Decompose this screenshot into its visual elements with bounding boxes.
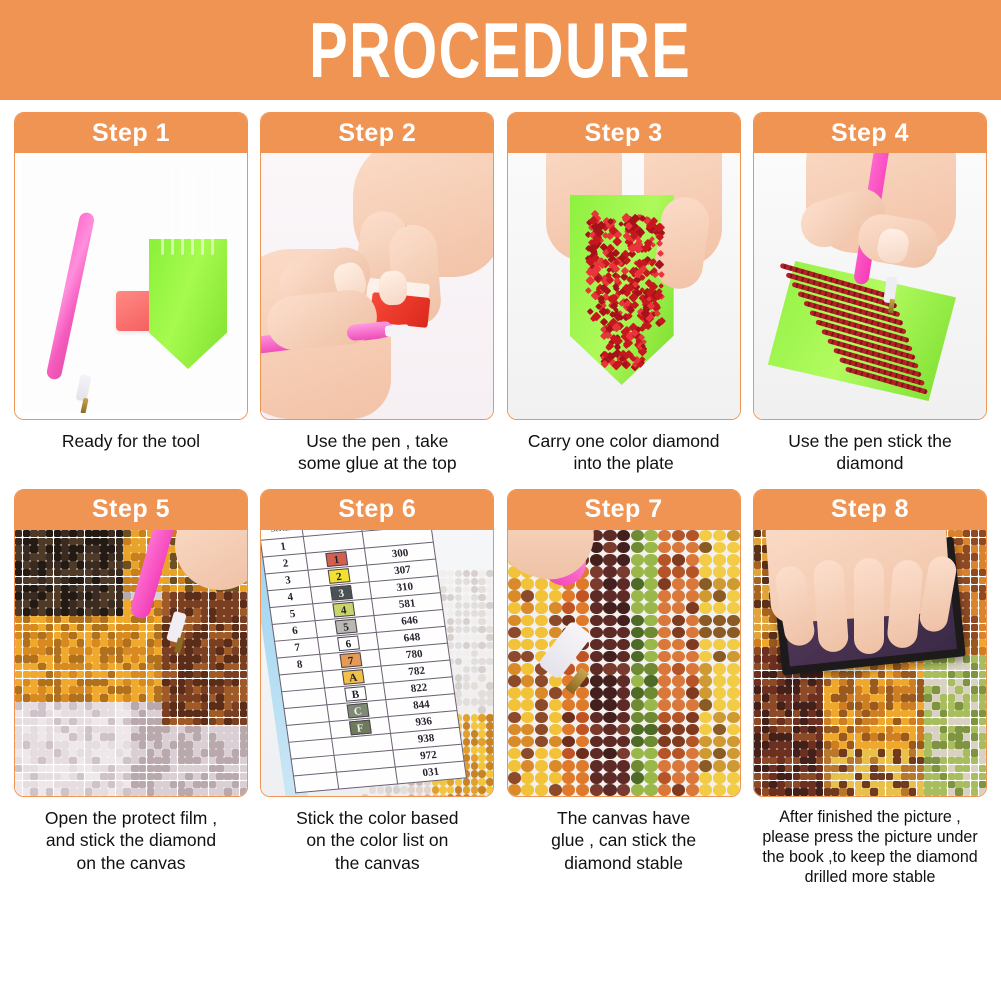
diamond-drill <box>77 773 84 780</box>
diamond-drill <box>855 718 862 725</box>
diamond-drill <box>901 718 908 725</box>
diamond-drill <box>471 714 478 722</box>
diamond-drill <box>108 608 115 615</box>
diamond-drill <box>816 671 823 678</box>
diamond-drill <box>948 702 955 709</box>
diamond-drill <box>508 615 521 627</box>
diamond-drill <box>917 765 924 772</box>
diamond-drill <box>521 663 534 675</box>
diamond-drill <box>240 702 247 709</box>
diamond-drill <box>224 679 231 686</box>
diamond-drill <box>463 650 470 658</box>
diamond-drill <box>123 632 130 639</box>
diamond-drill <box>201 632 208 639</box>
diamond-drill <box>209 741 216 748</box>
diamond-drill <box>631 615 644 627</box>
diamond-drill <box>154 655 161 662</box>
diamond-drill <box>69 733 76 740</box>
diamond-drill <box>147 616 154 623</box>
diamond-drill <box>762 600 769 607</box>
diamond-drill <box>699 663 712 675</box>
diamond-drill <box>686 639 699 651</box>
diamond-drill <box>478 754 485 762</box>
diamond-drill <box>824 749 831 756</box>
diamond-drill <box>463 602 470 610</box>
diamond-drill <box>486 722 493 730</box>
diamond-drill <box>15 569 22 576</box>
diamond-drill <box>46 741 53 748</box>
diamond-drill <box>754 577 761 584</box>
diamond-drill <box>769 726 776 733</box>
diamond-drill <box>77 718 84 725</box>
diamond-drill <box>940 788 947 795</box>
diamond-drill <box>108 632 115 639</box>
diamond-drill <box>963 679 970 686</box>
diamond-drill <box>15 710 22 717</box>
diamond-drill <box>699 651 712 663</box>
diamond-drill <box>576 602 589 614</box>
diamond-drill <box>893 749 900 756</box>
diamond-drill <box>77 608 84 615</box>
diamond-drill <box>963 592 970 599</box>
diamond-drill <box>658 699 671 711</box>
diamond-drill <box>870 733 877 740</box>
diamond-drill <box>216 632 223 639</box>
diamond-drill <box>108 585 115 592</box>
diamond-drill <box>240 632 247 639</box>
diamond-drill <box>61 749 68 756</box>
diamond-drill <box>824 694 831 701</box>
diamond-drill <box>240 741 247 748</box>
diamond-drill <box>216 781 223 788</box>
diamond-drill <box>61 608 68 615</box>
diamond-drill <box>447 578 454 586</box>
diamond-drill <box>727 639 740 651</box>
diamond-drill <box>100 545 107 552</box>
diamond-drill <box>727 554 740 566</box>
diamond-drill <box>162 702 169 709</box>
diamond-drill <box>924 741 931 748</box>
diamond-drill <box>178 600 185 607</box>
diamond-drill <box>30 679 37 686</box>
diamond-drill <box>672 772 685 784</box>
diamond-drill <box>893 788 900 795</box>
step-3-header: Step 3 <box>508 113 740 153</box>
diamond-drill <box>23 710 30 717</box>
diamond-drill <box>85 639 92 646</box>
diamond-drill <box>878 757 885 764</box>
diamond-drill <box>824 686 831 693</box>
diamond-drill <box>658 542 671 554</box>
diamond-drill <box>979 545 986 552</box>
diamond-drill <box>170 741 177 748</box>
diamond-drill <box>839 749 846 756</box>
diamond-drill <box>38 639 45 646</box>
diamond-drill <box>69 741 76 748</box>
diamond-drill <box>940 726 947 733</box>
diamond-drill <box>123 538 130 545</box>
diamond-drill <box>824 702 831 709</box>
diamond-drill <box>644 651 657 663</box>
diamond-drill <box>862 765 869 772</box>
diamond-drill <box>617 530 630 542</box>
diamond-drill <box>15 788 22 795</box>
diamond-drill <box>486 746 493 754</box>
diamond-drill <box>631 736 644 748</box>
diamond-drill <box>808 702 815 709</box>
diamond-drill <box>644 615 657 627</box>
diamond-drill <box>455 642 462 650</box>
diamond-drill <box>240 608 247 615</box>
diamond-drill <box>478 706 485 714</box>
diamond-drill <box>893 671 900 678</box>
diamond-drill <box>762 624 769 631</box>
diamond-drill <box>901 686 908 693</box>
diamond-drill <box>699 566 712 578</box>
diamond-drill <box>762 694 769 701</box>
diamond-drill <box>963 530 970 537</box>
diamond-drill <box>644 554 657 566</box>
diamond-drill <box>816 686 823 693</box>
diamond-drill <box>955 671 962 678</box>
diamond-drill <box>816 710 823 717</box>
diamond-drill <box>963 577 970 584</box>
diamond-drill <box>870 702 877 709</box>
diamond-drill <box>909 679 916 686</box>
diamond-drill <box>85 538 92 545</box>
diamond-drill <box>201 624 208 631</box>
diamond-drill <box>92 686 99 693</box>
diamond-drill <box>92 530 99 537</box>
diamond-drill <box>209 781 216 788</box>
diamond-drill <box>762 585 769 592</box>
diamond-drill <box>909 726 916 733</box>
diamond-drill <box>486 754 493 762</box>
diamond-drill <box>576 712 589 724</box>
diamond-drill <box>831 671 838 678</box>
diamond-drill <box>769 781 776 788</box>
diamond-drill <box>754 600 761 607</box>
diamond-drill <box>232 663 239 670</box>
diamond-drill <box>754 710 761 717</box>
diamond-drill <box>77 741 84 748</box>
diamond-drill <box>963 553 970 560</box>
diamond-drill <box>38 561 45 568</box>
diamond-drill <box>878 702 885 709</box>
diamond-drill <box>23 694 30 701</box>
diamond-drill <box>672 784 685 796</box>
diamond-drill <box>170 600 177 607</box>
diamond-drill <box>808 781 815 788</box>
diamond-drill <box>672 542 685 554</box>
diamond-drill <box>108 600 115 607</box>
diamond-drill <box>831 726 838 733</box>
diamond-drill <box>69 686 76 693</box>
diamond-drill <box>15 530 22 537</box>
diamond-drill <box>38 733 45 740</box>
diamond-drill <box>185 726 192 733</box>
diamond-drill <box>178 686 185 693</box>
diamond-drill <box>924 663 931 670</box>
diamond-drill <box>508 639 521 651</box>
diamond-drill <box>727 578 740 590</box>
diamond-drill <box>963 671 970 678</box>
diamond-drill <box>54 600 61 607</box>
diamond-drill <box>463 618 470 626</box>
diamond-drill <box>232 592 239 599</box>
diamond-drill <box>131 663 138 670</box>
diamond-drill <box>471 610 478 618</box>
diamond-drill <box>471 578 478 586</box>
diamond-drill <box>535 784 548 796</box>
diamond-drill <box>116 694 123 701</box>
diamond-drill <box>108 694 115 701</box>
diamond-drill <box>92 632 99 639</box>
diamond-drill <box>979 608 986 615</box>
diamond-drill <box>948 788 955 795</box>
diamond-drill <box>486 610 493 618</box>
diamond-drill <box>85 632 92 639</box>
diamond-drill <box>69 592 76 599</box>
diamond-drill <box>932 686 939 693</box>
diamond-drill <box>971 616 978 623</box>
diamond-drill <box>77 765 84 772</box>
diamond-drill <box>631 554 644 566</box>
diamond-drill <box>893 781 900 788</box>
diamond-drill <box>30 585 37 592</box>
diamond-drill <box>672 651 685 663</box>
diamond-drill <box>193 694 200 701</box>
diamond-drill <box>762 757 769 764</box>
diamond-drill <box>178 726 185 733</box>
diamond-drill <box>535 760 548 772</box>
diamond-drill <box>917 718 924 725</box>
diamond-drill <box>69 655 76 662</box>
diamond-drill <box>785 718 792 725</box>
diamond-drill <box>85 545 92 552</box>
diamond-drill <box>590 639 603 651</box>
diamond-drill <box>521 712 534 724</box>
diamond-drill <box>979 702 986 709</box>
diamond-drill <box>61 545 68 552</box>
diamond-drill <box>201 773 208 780</box>
diamond-drill <box>878 788 885 795</box>
step-5-image <box>15 530 247 796</box>
diamond-drill <box>878 733 885 740</box>
diamond-drill <box>870 679 877 686</box>
diamond-drill <box>77 671 84 678</box>
diamond-drill <box>644 687 657 699</box>
diamond-drill <box>754 718 761 725</box>
diamond-drill <box>617 627 630 639</box>
diamond-drill <box>603 590 616 602</box>
diamond-drill <box>699 675 712 687</box>
diamond-drill <box>486 586 493 594</box>
diamond-drill <box>631 724 644 736</box>
diamond-drill <box>69 718 76 725</box>
diamond-drill <box>162 616 169 623</box>
diamond-drill <box>508 748 521 760</box>
diamond-drill <box>85 679 92 686</box>
diamond-drill <box>979 616 986 623</box>
diamond-drill <box>727 663 740 675</box>
diamond-drill <box>162 600 169 607</box>
diamond-drill <box>839 718 846 725</box>
diamond-drill <box>85 749 92 756</box>
diamond-drill <box>15 702 22 709</box>
diamond-drill <box>971 718 978 725</box>
diamond-drill <box>92 577 99 584</box>
diamond-drill <box>940 710 947 717</box>
diamond-drill <box>562 602 575 614</box>
diamond-drill <box>549 760 562 772</box>
diamond-drill <box>69 569 76 576</box>
diamond-drill <box>209 639 216 646</box>
diamond-drill <box>909 765 916 772</box>
step-1-image <box>15 153 247 419</box>
diamond-drill <box>478 690 485 698</box>
diamond-drill <box>100 702 107 709</box>
diamond-drill <box>30 726 37 733</box>
diamond-drill <box>23 577 30 584</box>
diamond-drill <box>893 694 900 701</box>
diamond-drill <box>590 687 603 699</box>
diamond-drill <box>147 765 154 772</box>
diamond-drill <box>116 616 123 623</box>
diamond-drill <box>46 694 53 701</box>
diamond-drill <box>754 545 761 552</box>
diamond-drill <box>948 726 955 733</box>
diamond-drill <box>154 710 161 717</box>
diamond-drill <box>963 781 970 788</box>
diamond-drill <box>590 736 603 748</box>
diamond-drill <box>686 542 699 554</box>
diamond-drill <box>201 702 208 709</box>
diamond-drill <box>92 561 99 568</box>
diamond-drill <box>131 553 138 560</box>
diamond-drill <box>549 602 562 614</box>
diamond-drill <box>61 624 68 631</box>
diamond-drill <box>178 773 185 780</box>
diamond-drill <box>808 788 815 795</box>
diamond-drill <box>23 773 30 780</box>
diamond-drill <box>658 687 671 699</box>
diamond-drill <box>478 674 485 682</box>
diamond-drill <box>46 569 53 576</box>
diamond-drill <box>201 616 208 623</box>
diamond-drill <box>713 566 726 578</box>
diamond-drill <box>147 718 154 725</box>
diamond-drill <box>800 773 807 780</box>
diamond-drill <box>816 773 823 780</box>
diamond-drill <box>232 781 239 788</box>
diamond-drill <box>463 674 470 682</box>
diamond-drill <box>924 694 931 701</box>
diamond-drill <box>240 679 247 686</box>
diamond-drill <box>886 733 893 740</box>
diamond-drill <box>85 718 92 725</box>
diamond-drill <box>870 765 877 772</box>
diamond-drill <box>77 710 84 717</box>
diamond-drill <box>154 624 161 631</box>
diamond-drill <box>54 608 61 615</box>
diamond-drill <box>100 726 107 733</box>
diamond-drill <box>940 781 947 788</box>
diamond-drill <box>658 724 671 736</box>
step-4-header-label: Step 4 <box>831 121 909 146</box>
diamond-drill <box>839 671 846 678</box>
diamond-drill <box>478 722 485 730</box>
diamond-drill <box>61 561 68 568</box>
diamond-drill <box>224 608 231 615</box>
diamond-drill <box>535 699 548 711</box>
diamond-drill <box>162 710 169 717</box>
diamond-drill <box>886 679 893 686</box>
diamond-drill <box>955 710 962 717</box>
diamond-drill <box>893 718 900 725</box>
step-card-2: Step 2 <box>260 112 494 475</box>
diamond-drill <box>576 724 589 736</box>
diamond-drill <box>603 578 616 590</box>
diamond-drill <box>672 530 685 542</box>
diamond-drill <box>535 748 548 760</box>
diamond-drill <box>855 726 862 733</box>
diamond-drill <box>672 724 685 736</box>
diamond-drill <box>46 647 53 654</box>
diamond-drill <box>463 682 470 690</box>
diamond-drill <box>85 585 92 592</box>
diamond-drill <box>232 710 239 717</box>
diamond-drill <box>590 554 603 566</box>
diamond-drill <box>878 694 885 701</box>
diamond-drill <box>886 773 893 780</box>
diamond-drill <box>209 718 216 725</box>
diamond-drill <box>463 698 470 706</box>
diamond-drill <box>955 702 962 709</box>
diamond-drill <box>216 718 223 725</box>
step-card-5: Step 5 Open the protect film ,and stick … <box>14 489 248 888</box>
diamond-drill <box>508 724 521 736</box>
step-4-card: Step 4 <box>753 112 987 420</box>
diamond-drill <box>808 686 815 693</box>
diamond-drill <box>521 615 534 627</box>
diamond-drill <box>486 690 493 698</box>
diamond-drill <box>617 760 630 772</box>
diamond-drill <box>108 741 115 748</box>
diamond-drill <box>77 781 84 788</box>
diamond-drill <box>486 786 493 794</box>
diamond-drill <box>699 724 712 736</box>
diamond-drill <box>108 757 115 764</box>
diamond-drill <box>15 592 22 599</box>
diamond-drill <box>224 733 231 740</box>
diamond-drill <box>754 749 761 756</box>
diamond-drill <box>631 542 644 554</box>
diamond-drill <box>77 569 84 576</box>
diamond-drill <box>631 651 644 663</box>
diamond-drill <box>847 749 854 756</box>
diamond-drill <box>617 639 630 651</box>
diamond-drill <box>131 639 138 646</box>
diamond-drill <box>85 781 92 788</box>
diamond-drill <box>909 741 916 748</box>
diamond-drill <box>785 679 792 686</box>
diamond-drill <box>508 772 521 784</box>
diamond-drill <box>209 632 216 639</box>
diamond-drill <box>224 710 231 717</box>
diamond-drill <box>216 624 223 631</box>
diamond-drill <box>224 773 231 780</box>
